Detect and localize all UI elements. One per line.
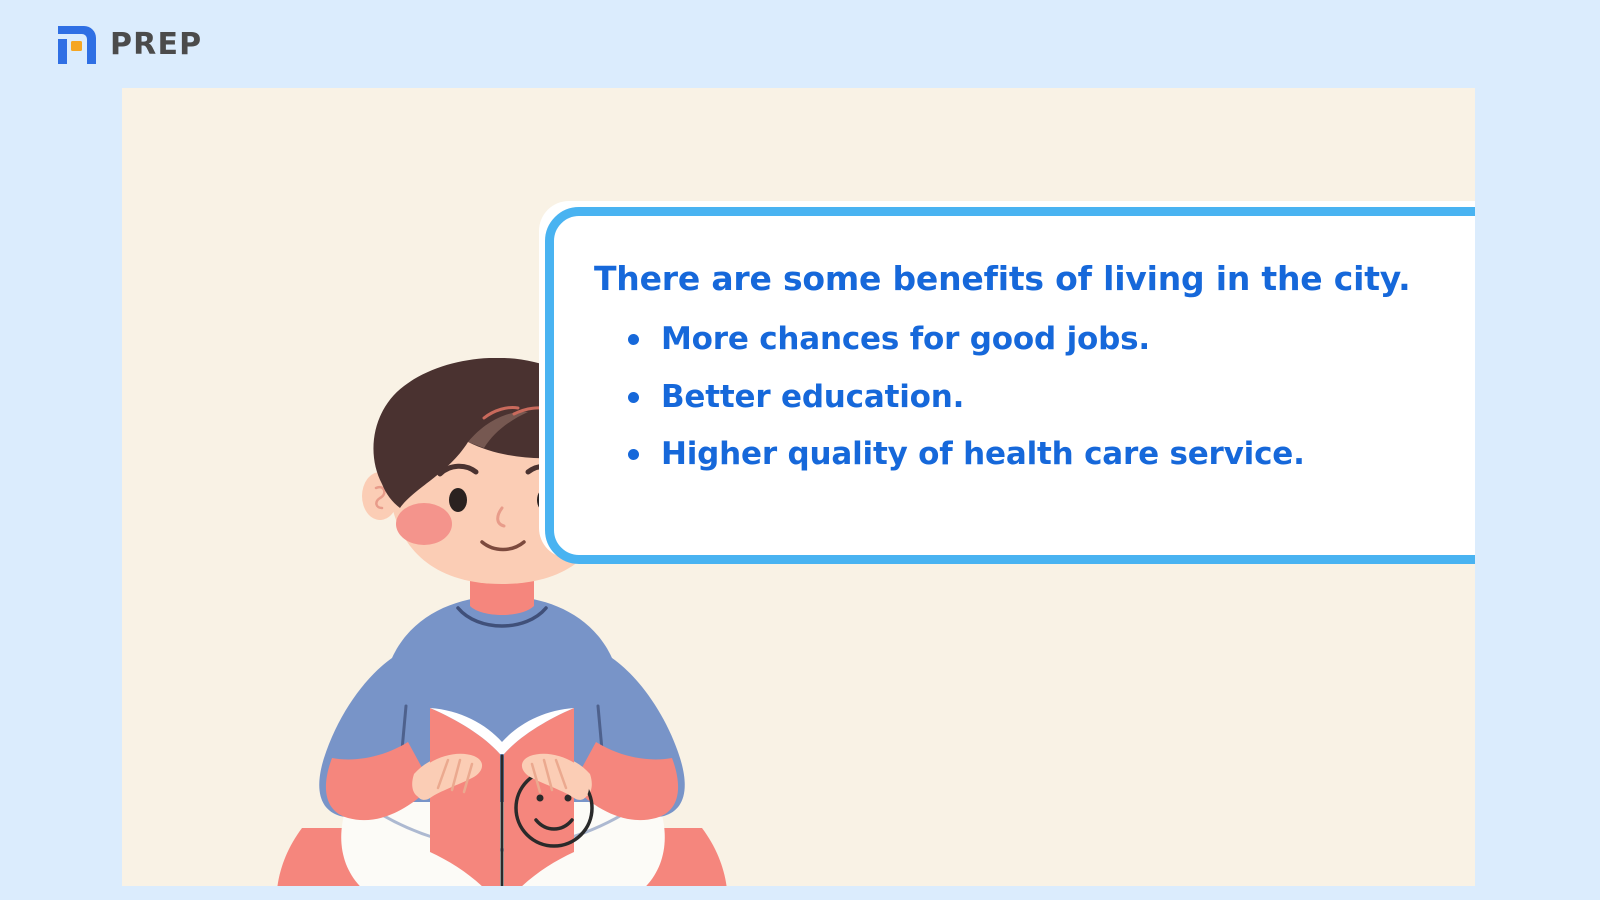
card-content: There are some benefits of living in the… [539,201,1475,564]
list-item-label: More chances for good jobs. [661,321,1150,357]
list-item-label: Better education. [661,379,964,415]
brand-logo[interactable]: PREP [54,22,202,68]
bullet-dot-icon [628,449,639,460]
content-panel: There are some benefits of living in the… [122,88,1475,886]
list-item: Higher quality of health care service. [628,426,1474,483]
brand-wordmark: PREP [110,30,202,60]
card-heading: There are some benefits of living in the… [594,261,1474,297]
page-root: PREP [0,0,1600,900]
bullet-dot-icon [628,334,639,345]
prep-logo-mark-icon [54,22,100,68]
list-item: Better education. [628,369,1474,426]
speech-card: There are some benefits of living in the… [539,201,1475,564]
benefits-list: More chances for good jobs. Better educa… [594,311,1474,483]
list-item: More chances for good jobs. [628,311,1474,368]
bullet-dot-icon [628,392,639,403]
list-item-label: Higher quality of health care service. [661,436,1305,472]
